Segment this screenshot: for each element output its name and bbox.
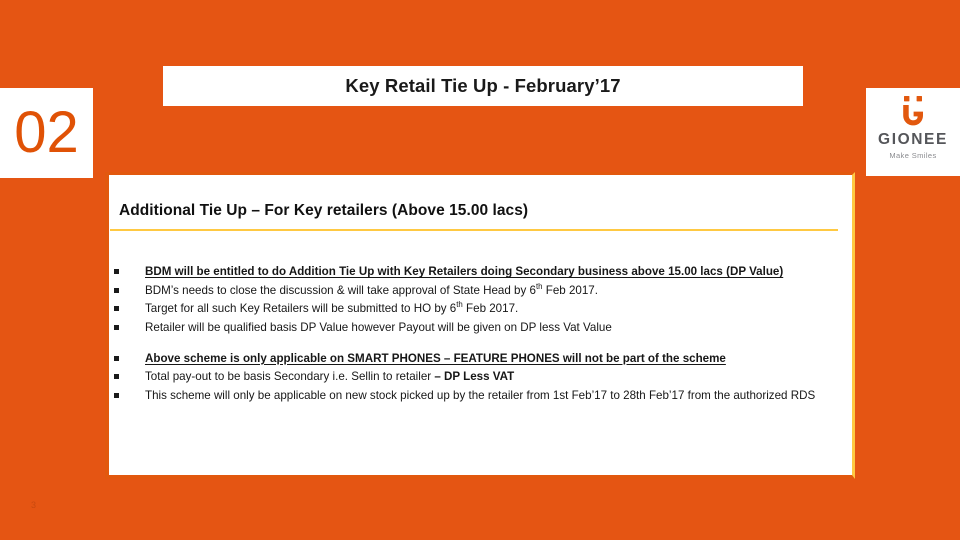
bullet-retailer-qualified-dp-text: Retailer will be qualified basis DP Valu… xyxy=(145,321,612,334)
bullet-square-icon xyxy=(114,325,119,330)
bullet-square-icon xyxy=(114,269,119,274)
bullet-bdm-entitled-text: BDM will be entitled to do Addition Tie … xyxy=(145,265,783,278)
section-heading: Additional Tie Up – For Key retailers (A… xyxy=(119,175,838,220)
bullet-bdm-close-discussion-superscript: th xyxy=(536,282,543,291)
bullet-square-icon xyxy=(114,374,119,379)
slide-number-badge: 02 xyxy=(0,88,93,178)
gionee-g-logo-icon xyxy=(896,94,930,130)
list-item: This scheme will only be applicable on n… xyxy=(109,388,844,405)
bullet-square-icon xyxy=(114,306,119,311)
content-card: Additional Tie Up – For Key retailers (A… xyxy=(105,172,855,479)
list-item: BDM’s needs to close the discussion & wi… xyxy=(109,283,844,300)
list-item: BDM will be entitled to do Addition Tie … xyxy=(109,264,844,281)
brand-logo-panel: GIONEE Make Smiles xyxy=(866,88,960,176)
bullet-total-payout-text-bold: – DP Less VAT xyxy=(434,370,514,383)
list-item: Target for all such Key Retailers will b… xyxy=(109,301,844,318)
bullet-bdm-close-discussion-text-after: Feb 2017. xyxy=(543,284,598,297)
bullet-total-payout-text-before: Total pay-out to be basis Secondary i.e.… xyxy=(145,370,434,383)
slide-number-text: 02 xyxy=(14,104,79,162)
bullet-target-submitted-ho-text-before: Target for all such Key Retailers will b… xyxy=(145,302,456,315)
brand-tagline: Make Smiles xyxy=(889,151,936,160)
bullet-bdm-close-discussion-text-before: BDM’s needs to close the discussion & wi… xyxy=(145,284,536,297)
bullet-smart-phones-only-text: Above scheme is only applicable on SMART… xyxy=(145,352,726,365)
bullet-square-icon xyxy=(114,393,119,398)
list-item: Above scheme is only applicable on SMART… xyxy=(109,351,844,368)
page-number: 3 xyxy=(31,500,36,510)
brand-wordmark: GIONEE xyxy=(878,131,948,149)
bullet-new-stock-window-text: This scheme will only be applicable on n… xyxy=(145,389,815,402)
bullet-target-submitted-ho-superscript: th xyxy=(456,301,463,310)
page-title: Key Retail Tie Up - February’17 xyxy=(345,75,620,97)
slide-title-bar: Key Retail Tie Up - February’17 xyxy=(163,66,803,106)
bullet-square-icon xyxy=(114,356,119,361)
list-item: Retailer will be qualified basis DP Valu… xyxy=(109,320,844,337)
bullet-list: BDM will be entitled to do Addition Tie … xyxy=(109,231,852,405)
bullet-target-submitted-ho-text-after: Feb 2017. xyxy=(463,302,518,315)
list-item: Total pay-out to be basis Secondary i.e.… xyxy=(109,369,844,386)
bullet-square-icon xyxy=(114,288,119,293)
